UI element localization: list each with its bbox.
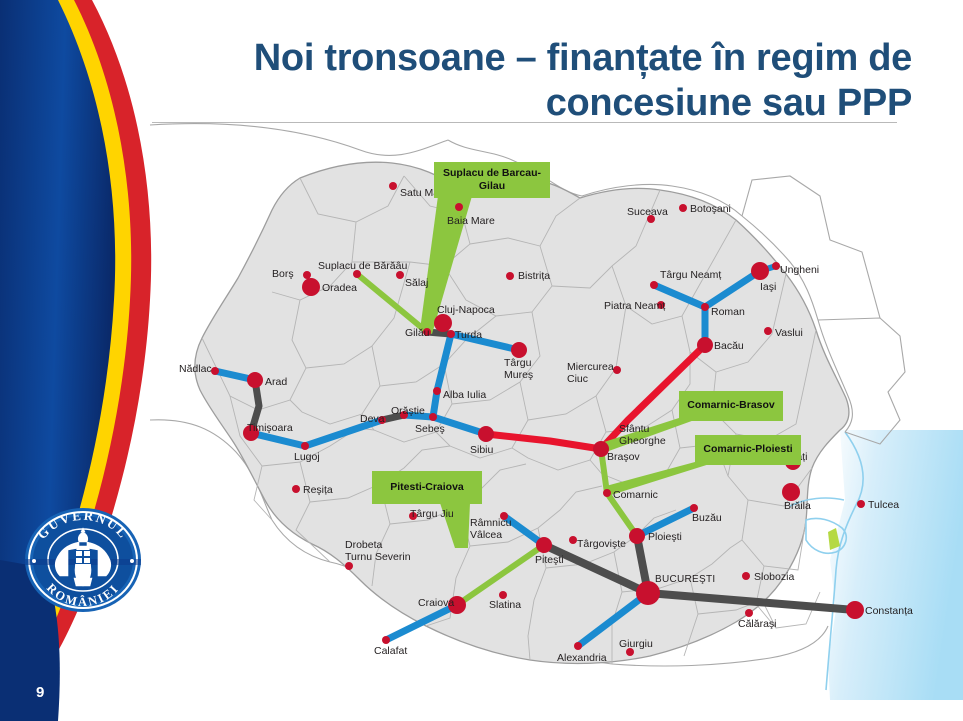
city-label-targoviste: Târgovişte	[577, 539, 626, 551]
city-dot-satu-mare	[389, 182, 397, 190]
city-label-sfantu-gheorghe: Sfântu Gheorghe	[619, 424, 666, 448]
city-label-comarnic: Comarnic	[613, 490, 658, 502]
city-label-giurgiu: Giurgiu	[619, 639, 653, 651]
city-label-botosani: Botoşani	[690, 204, 731, 216]
city-label-roman: Roman	[711, 307, 745, 319]
city-label-orastie: Orăştie	[391, 406, 425, 418]
city-label-ungheni: Ungheni	[780, 265, 819, 277]
city-label-brasov: Braşov	[607, 452, 640, 464]
city-label-resita: Reşița	[303, 485, 333, 497]
city-dot-buzau	[690, 504, 698, 512]
city-label-arad: Arad	[265, 377, 287, 389]
callout-suplacu-de-barcau-gilau[interactable]: Suplacu de Barcau- Gilau	[434, 162, 550, 198]
city-dot-bacau	[697, 337, 713, 353]
city-label-bistrita: Bistrița	[518, 271, 550, 283]
city-dot-oradea	[302, 278, 320, 296]
city-label-piatra-neamt: Piatra Neamț	[604, 301, 665, 313]
page-title: Noi tronsoane – finanțate în regim de co…	[152, 36, 912, 126]
city-dot-baia-mare	[455, 203, 463, 211]
city-dot-braila	[782, 483, 800, 501]
city-dot-bors	[303, 271, 311, 279]
city-label-drobeta-turnu-severin: Drobeta Turnu Severin	[345, 540, 411, 564]
city-label-alexandria: Alexandria	[557, 653, 607, 665]
city-label-targu-jiu: Târgu Jiu	[410, 509, 454, 521]
city-dot-constanta	[846, 601, 864, 619]
city-label-turda: Turda	[455, 330, 482, 342]
city-dot-resita	[292, 485, 300, 493]
city-label-nadlac: Nădlac	[179, 364, 212, 376]
city-dot-targu-mures	[511, 342, 527, 358]
city-label-buzau: Buzău	[692, 513, 722, 525]
city-dot-targu-neamt	[650, 281, 658, 289]
city-label-baia-mare: Baia Mare	[447, 216, 495, 228]
city-label-miercurea-ciuc: Miercurea Ciuc	[567, 362, 614, 386]
city-label-deva: Deva	[360, 414, 385, 426]
city-dot-nadlac	[211, 367, 219, 375]
slide-root: Satu MareBaia MareBorşOradeaSuplacu de B…	[0, 0, 963, 721]
city-dot-botosani	[679, 204, 687, 212]
city-label-cluj-napoca: Cluj-Napoca	[437, 305, 495, 317]
government-seal: GUVERNUL ROMÂNIEI	[22, 506, 144, 614]
page-title-line-2: concesiune sau PPP	[152, 81, 912, 126]
city-dot-comarnic	[603, 489, 611, 497]
city-dot-lugoj	[301, 442, 309, 450]
city-dot-ploiesti	[629, 528, 645, 544]
city-label-ramnicu-valcea: Râmnicu Vâlcea	[470, 518, 511, 542]
city-label-targu-neamt: Târgu Neamț	[660, 270, 721, 282]
city-label-tulcea: Tulcea	[868, 500, 899, 512]
city-label-bors: Borş	[272, 269, 294, 281]
callout-comarnic-brasov[interactable]: Comarnic-Brasov	[679, 391, 783, 421]
city-label-timisoara: Timişoara	[247, 423, 293, 435]
city-dot-miercurea-ciuc	[613, 366, 621, 374]
city-dot-arad	[247, 372, 263, 388]
city-dot-alba-iulia	[433, 387, 441, 395]
city-dot-turda	[447, 330, 455, 338]
city-label-craiova: Craiova	[418, 598, 454, 610]
city-label-sebes: Sebeş	[415, 424, 445, 436]
city-label-suceava: Suceava	[627, 207, 668, 219]
city-dot-calafat	[382, 636, 390, 644]
city-dot-calarasi	[745, 609, 753, 617]
city-label-bacau: Bacău	[714, 341, 744, 353]
city-label-sibiu: Sibiu	[470, 445, 493, 457]
city-dot-vaslui	[764, 327, 772, 335]
city-dot-pitesti	[536, 537, 552, 553]
city-dot-alexandria	[574, 642, 582, 650]
city-dot-sebes	[429, 413, 437, 421]
city-label-oradea: Oradea	[322, 283, 357, 295]
callout-pitesti-craiova[interactable]: Pitesti-Craiova	[372, 471, 482, 504]
callout-comarnic-ploiesti[interactable]: Comarnic-Ploiesti	[695, 435, 801, 465]
city-label-targu-mures: Târgu Mureş	[504, 358, 533, 382]
black-sea	[826, 430, 963, 700]
city-label-bucuresti: BUCUREŞTI	[655, 574, 715, 585]
city-label-ploiesti: Ploieşti	[648, 532, 682, 544]
city-label-calafat: Calafat	[374, 646, 407, 658]
city-label-lugoj: Lugoj	[294, 452, 320, 464]
city-dot-ungheni	[772, 262, 780, 270]
city-dot-tulcea	[857, 500, 865, 508]
city-label-constanta: Constanța	[865, 606, 913, 618]
city-label-gilau: Gilău	[405, 328, 430, 340]
city-label-salaj: Sălaj	[405, 278, 428, 290]
city-dot-iasi	[751, 262, 769, 280]
city-label-suplacu-de-barcau: Suplacu de Bărăâu	[318, 261, 407, 273]
city-dot-roman	[701, 303, 709, 311]
city-label-braila: Brăila	[784, 501, 811, 513]
city-dot-bistrita	[506, 272, 514, 280]
city-label-slobozia: Slobozia	[754, 572, 794, 584]
city-dot-sibiu	[478, 426, 494, 442]
page-number: 9	[36, 684, 45, 701]
city-label-pitesti: Piteşti	[535, 555, 564, 567]
city-dot-slatina	[499, 591, 507, 599]
city-label-vaslui: Vaslui	[775, 328, 803, 340]
city-label-slatina: Slatina	[489, 600, 521, 612]
city-dot-targoviste	[569, 536, 577, 544]
page-title-line-1: Noi tronsoane – finanțate în regim de	[152, 36, 912, 81]
city-label-alba-iulia: Alba Iulia	[443, 390, 486, 402]
city-label-calarasi: Călăraşi	[738, 619, 777, 631]
city-dot-slobozia	[742, 572, 750, 580]
city-label-iasi: Iaşi	[760, 282, 776, 294]
